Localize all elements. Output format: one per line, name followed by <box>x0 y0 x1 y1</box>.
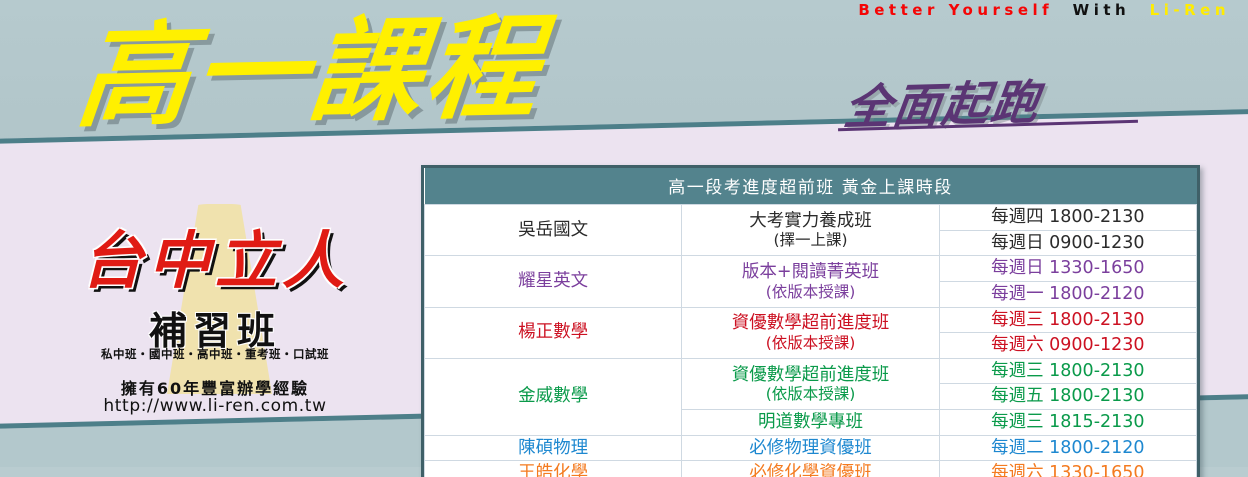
teacher-name-cell: 金威數學 <box>425 358 682 435</box>
schedule-header-title: 高一段考進度超前班 黃金上課時段 <box>425 168 1197 205</box>
logo-categories: 私中班・國中班・高中班・重考班・口試班 <box>45 346 385 362</box>
table-row: 陳碩物理必修物理資優班每週二 1800-2120 <box>425 435 1197 461</box>
course-note: (依版本授課) <box>686 334 934 352</box>
course-note: (依版本授課) <box>686 385 934 403</box>
tagline-part2: With <box>1073 1 1131 19</box>
teacher-name-cell: 耀星英文 <box>425 256 682 307</box>
course-note: (擇一上課) <box>686 231 934 249</box>
course-name-cell: 大考實力養成班(擇一上課) <box>682 205 939 256</box>
class-time-cell: 每週三 1815-2130 <box>939 410 1196 436</box>
table-row: 耀星英文版本+閱讀菁英班(依版本授課)每週日 1330-1650 <box>425 256 1197 282</box>
schedule-table: 高一段考進度超前班 黃金上課時段 吳岳國文大考實力養成班(擇一上課)每週四 18… <box>424 168 1197 477</box>
tagline-part1: Better Yourself <box>858 1 1053 19</box>
course-name-cell: 明道數學專班 <box>682 410 939 436</box>
table-row: 吳岳國文大考實力養成班(擇一上課)每週四 1800-2130 <box>425 205 1197 231</box>
schedule-card: 高一段考進度超前班 黃金上課時段 吳岳國文大考實力養成班(擇一上課)每週四 18… <box>421 165 1200 477</box>
page-title: 高一課程 <box>72 9 548 137</box>
teacher-name-cell: 陳碩物理 <box>425 435 682 461</box>
teacher-name-cell: 楊正數學 <box>425 307 682 358</box>
class-time-cell: 每週六 0900-1230 <box>939 333 1196 359</box>
class-time-cell: 每週五 1800-2130 <box>939 384 1196 410</box>
course-name-cell: 資優數學超前進度班(依版本授課) <box>682 358 939 409</box>
course-name-cell: 版本+閱讀菁英班(依版本授課) <box>682 256 939 307</box>
class-time-cell: 每週一 1800-2120 <box>939 281 1196 307</box>
class-time-cell: 每週二 1800-2120 <box>939 435 1196 461</box>
table-row: 楊正數學資優數學超前進度班(依版本授課)每週三 1800-2130 <box>425 307 1197 333</box>
poster-stage: Better Yourself With Li-Ren 高一課程 全面起跑 台中… <box>0 0 1248 477</box>
schedule-body: 吳岳國文大考實力養成班(擇一上課)每週四 1800-2130每週日 0900-1… <box>425 205 1197 477</box>
course-name-cell: 必修物理資優班 <box>682 435 939 461</box>
tagline-part3: Li-Ren <box>1150 1 1230 19</box>
teacher-name-cell: 王皓化學 <box>425 461 682 477</box>
table-row: 王皓化學必修化學資優班每週六 1330-1650 <box>425 461 1197 477</box>
class-time-cell: 每週四 1800-2130 <box>939 205 1196 231</box>
logo-name: 台中立人 <box>45 210 385 300</box>
class-time-cell: 每週日 1330-1650 <box>939 256 1196 282</box>
course-name-cell: 必修化學資優班 <box>682 461 939 477</box>
website-url[interactable]: http://www.li-ren.com.tw <box>45 396 385 416</box>
class-time-cell: 每週日 0900-1230 <box>939 230 1196 256</box>
course-name-cell: 資優數學超前進度班(依版本授課) <box>682 307 939 358</box>
class-time-cell: 每週三 1800-2130 <box>939 307 1196 333</box>
table-row: 金威數學資優數學超前進度班(依版本授課)每週三 1800-2130 <box>425 358 1197 384</box>
class-time-cell: 每週六 1330-1650 <box>939 461 1196 477</box>
class-time-cell: 每週三 1800-2130 <box>939 358 1196 384</box>
table-header-row: 高一段考進度超前班 黃金上課時段 <box>425 168 1197 205</box>
teacher-name-cell: 吳岳國文 <box>425 205 682 256</box>
course-note: (依版本授課) <box>686 283 934 301</box>
